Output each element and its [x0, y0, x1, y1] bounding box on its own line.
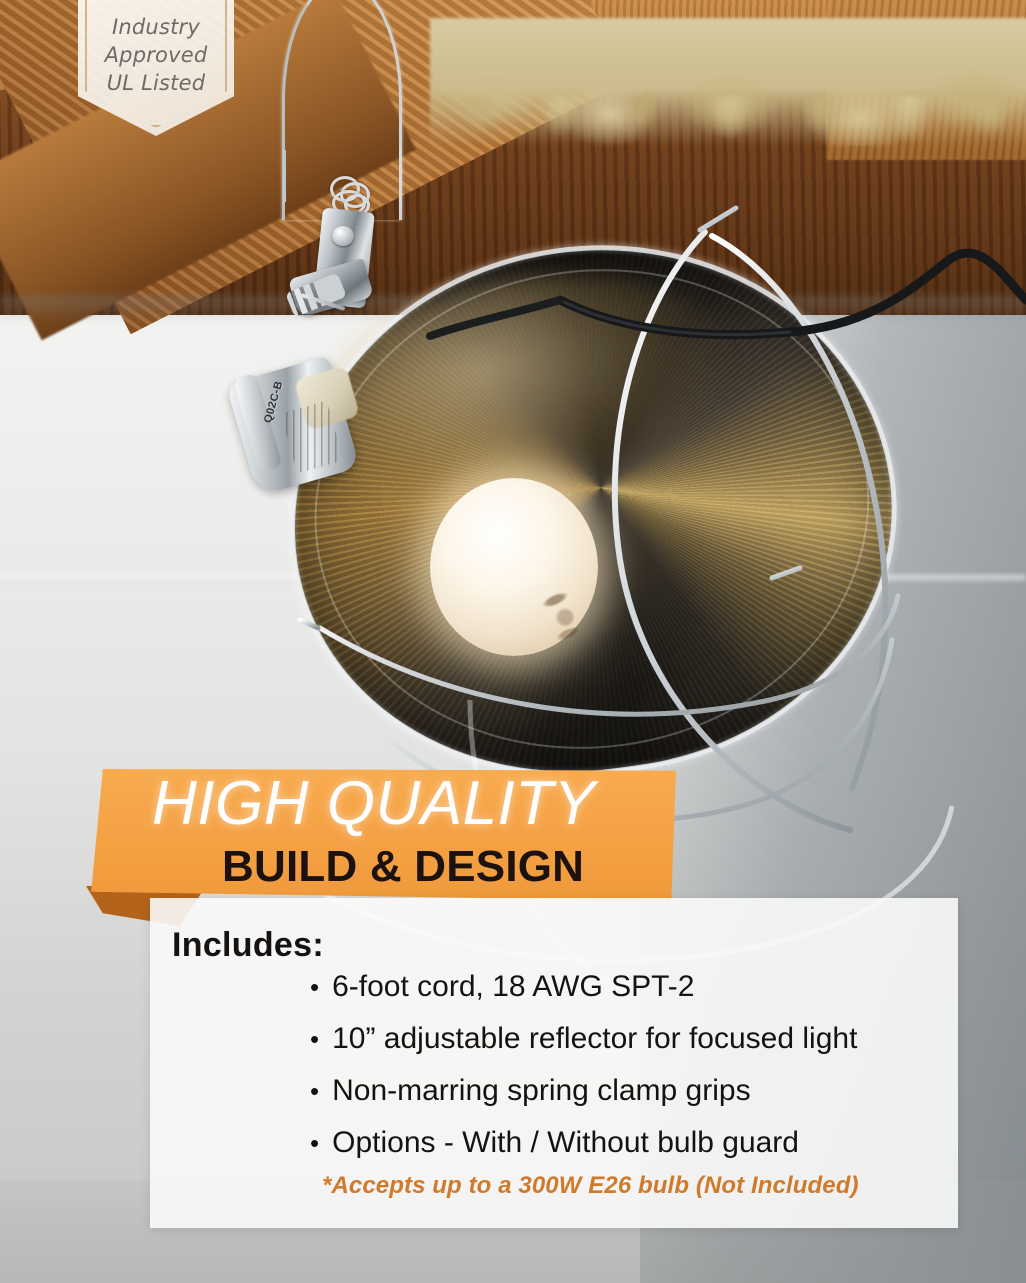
- bullet-icon: •: [310, 1130, 319, 1156]
- badge-line-1: Industry: [78, 14, 234, 42]
- clamp-screw: [332, 226, 354, 246]
- bullet-icon: •: [310, 1078, 319, 1104]
- list-item: • 6-foot cord, 18 AWG SPT-2: [310, 972, 930, 1002]
- banner-title: HIGH QUALITY: [152, 773, 596, 835]
- list-item: • Options - With / Without bulb guard: [310, 1128, 930, 1158]
- badge-line-2: Approved: [78, 42, 234, 70]
- list-item-label: 6-foot cord, 18 AWG SPT-2: [332, 972, 694, 1002]
- certification-badge-text: Industry Approved UL Listed: [78, 14, 234, 98]
- bullet-icon: •: [310, 974, 319, 1000]
- includes-list: • 6-foot cord, 18 AWG SPT-2 • 10” adjust…: [310, 972, 930, 1180]
- bulb-footnote: *Accepts up to a 300W E26 bulb (Not Incl…: [322, 1172, 859, 1200]
- includes-heading: Includes:: [172, 926, 324, 965]
- insulation-fringe: [440, 96, 1026, 176]
- bullet-icon: •: [310, 1026, 319, 1052]
- list-item-label: 10” adjustable reflector for focused lig…: [332, 1024, 857, 1054]
- badge-line-3: UL Listed: [78, 70, 234, 98]
- list-item: • Non-marring spring clamp grips: [310, 1076, 930, 1106]
- hanging-wire-left-leg: [283, 150, 286, 202]
- product-marketing-image: Q02C-B Industry Approved UL Listed HIGH …: [0, 0, 1026, 1283]
- list-item-label: Options - With / Without bulb guard: [332, 1128, 799, 1158]
- list-item-label: Non-marring spring clamp grips: [332, 1076, 750, 1106]
- list-item: • 10” adjustable reflector for focused l…: [310, 1024, 930, 1054]
- banner-subtitle: BUILD & DESIGN: [222, 845, 584, 889]
- hanging-wire-right-leg: [399, 150, 402, 206]
